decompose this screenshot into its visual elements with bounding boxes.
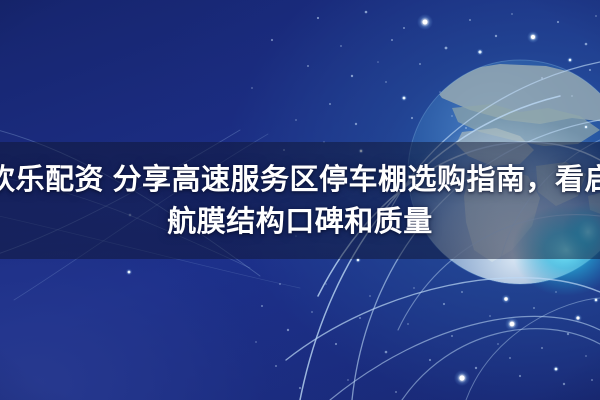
headline-line-1: 欢乐配资 分享高速服务区停车棚选购指南，看启 (0, 160, 600, 200)
headline-line-2: 航膜结构口碑和质量 (167, 202, 433, 242)
banner-image: 欢乐配资 分享高速服务区停车棚选购指南，看启 航膜结构口碑和质量 (0, 0, 600, 400)
headline-text-block: 欢乐配资 分享高速服务区停车棚选购指南，看启 航膜结构口碑和质量 (0, 142, 600, 259)
